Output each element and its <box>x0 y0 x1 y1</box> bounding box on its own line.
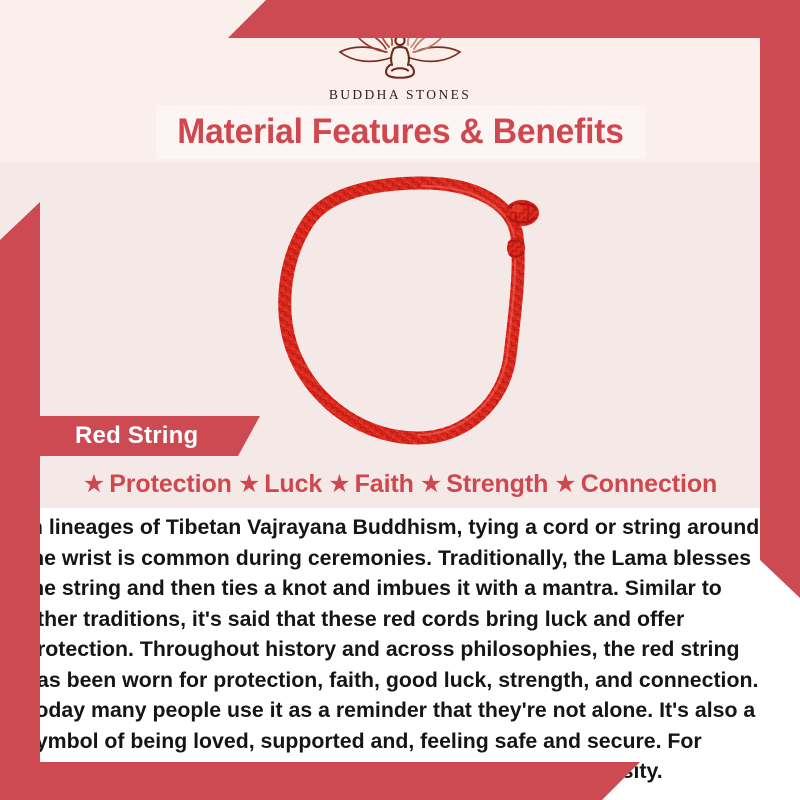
product-name-banner: Red String <box>20 416 260 456</box>
star-icon: ★ <box>328 472 350 497</box>
benefits-list: ★ Protection ★ Luck ★ Faith ★ Strength ★… <box>0 464 800 504</box>
star-icon: ★ <box>420 472 442 497</box>
page-title: Material Features & Benefits <box>178 112 625 152</box>
benefit-label: Strength <box>446 470 548 499</box>
description-text: In lineages of Tibetan Vajrayana Buddhis… <box>24 512 768 787</box>
decorative-frame-bottom <box>0 762 640 800</box>
product-name-label: Red String <box>75 422 198 450</box>
product-image <box>270 170 570 452</box>
benefit-item: ★ Strength <box>420 470 548 499</box>
star-icon: ★ <box>554 472 576 497</box>
benefit-item: ★ Luck <box>238 470 322 499</box>
benefit-label: Protection <box>109 470 232 499</box>
star-icon: ★ <box>83 472 105 497</box>
benefit-label: Faith <box>355 470 414 499</box>
benefit-item: ★ Faith <box>328 470 414 499</box>
decorative-frame-left <box>0 202 40 800</box>
decorative-frame-top <box>228 0 800 38</box>
decorative-frame-right <box>760 0 800 598</box>
benefit-item: ★ Protection <box>83 470 232 499</box>
benefit-label: Connection <box>581 470 718 499</box>
benefit-label: Luck <box>264 470 322 499</box>
benefit-item: ★ Connection <box>554 470 717 499</box>
page-title-plate: Material Features & Benefits <box>156 105 646 159</box>
star-icon: ★ <box>238 472 260 497</box>
brand-name: BUDDHA STONES <box>329 87 471 103</box>
